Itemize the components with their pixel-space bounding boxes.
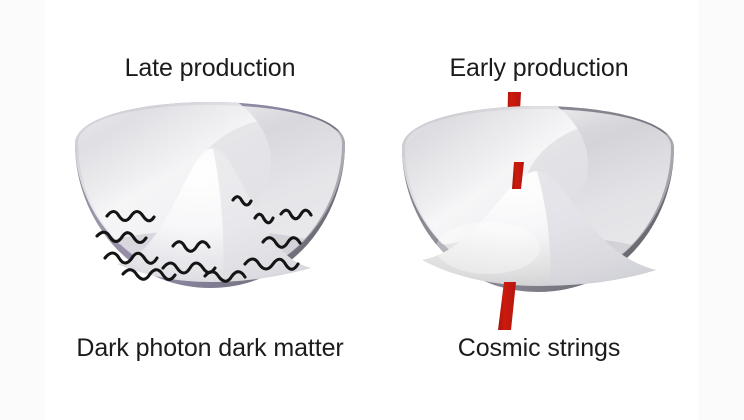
left-edge-band [0,0,45,420]
panel-caption-dark-photon-dark-matter: Dark photon dark matter [45,334,375,363]
figure-early-production [380,96,698,326]
panel-early-production: Early production [380,0,698,420]
right-edge-band [698,0,744,420]
panel-title-late-production: Late production [45,54,375,83]
panel-title-early-production: Early production [380,54,698,83]
cosmic-string-lower-segment [498,282,516,330]
mexican-hat-potential-left [45,96,375,326]
figure-late-production [45,96,375,326]
diagram-canvas: Late production [0,0,744,420]
mexican-hat-potential-right [380,96,698,326]
peak-highlight-right [436,222,540,274]
panel-late-production: Late production [45,0,375,420]
panel-caption-cosmic-strings: Cosmic strings [380,334,698,363]
